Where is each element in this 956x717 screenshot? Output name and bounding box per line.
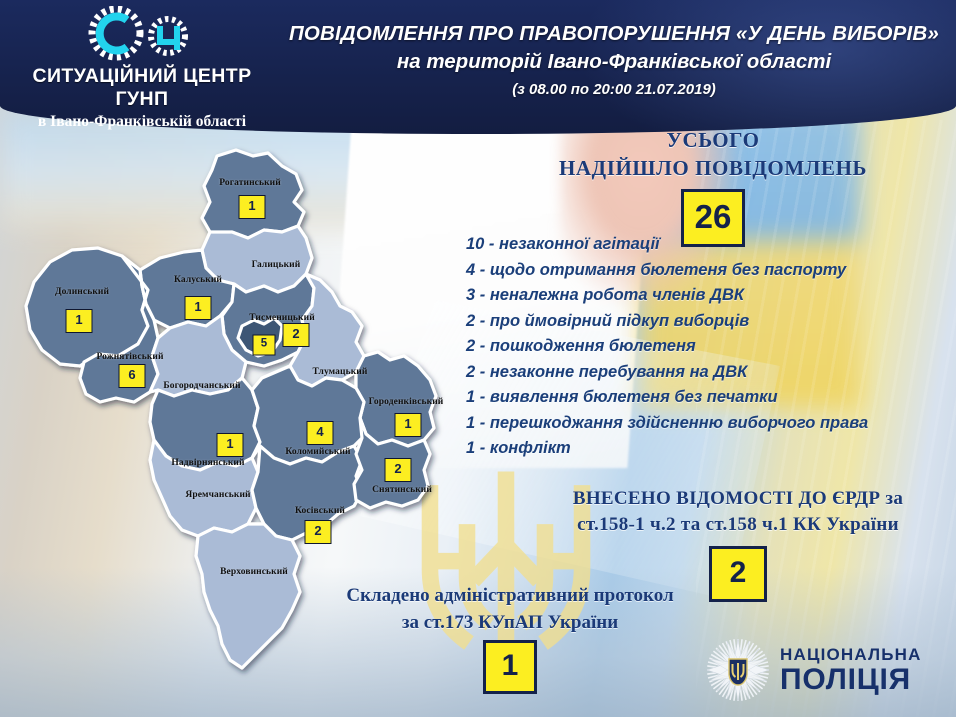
map-label-dolynskyi: Долинський bbox=[55, 287, 109, 297]
map-label-bohorodchanskyi: Богородчанський bbox=[163, 381, 240, 391]
title-line-1: ПОВІДОМЛЕННЯ ПРО ПРАВОПОРУШЕННЯ «У ДЕНЬ … bbox=[278, 22, 950, 46]
map-badge-kosivskyi: 2 bbox=[305, 520, 332, 544]
protocol-value-badge: 1 bbox=[483, 640, 537, 694]
totals-block: УСЬОГО НАДІЙШЛО ПОВІДОМЛЕНЬ 26 bbox=[470, 128, 956, 247]
list-item: 1 - виявлення бюлетеня без печатки bbox=[466, 385, 956, 411]
map-label-verkhovynskyi: Верховинський bbox=[220, 567, 288, 577]
map-badge-rozhniativskyi: 6 bbox=[119, 364, 146, 388]
totals-label-line2: НАДІЙШЛО ПОВІДОМЛЕНЬ bbox=[470, 156, 956, 181]
police-line-1: НАЦІОНАЛЬНА bbox=[780, 646, 922, 663]
region-map: Рогатинський Галицький Долинський Калусь… bbox=[6, 140, 466, 710]
map-label-horodenkivskyi: Городенківський bbox=[369, 397, 444, 407]
map-badge-ivano-frankivsk-city: 5 bbox=[253, 335, 276, 356]
map-badge-nadvirnianskyi: 1 bbox=[217, 433, 244, 457]
police-wordmark: НАЦІОНАЛЬНА ПОЛІЦІЯ bbox=[780, 646, 922, 695]
gear-emblem-sc-icon bbox=[82, 6, 202, 64]
erdr-line-1: ВНЕСЕНО ВІДОМОСТІ ДО ЄРДР за bbox=[520, 486, 956, 512]
map-badge-kolomyiskyi: 4 bbox=[307, 421, 334, 445]
list-item: 1 - конфлікт bbox=[466, 436, 956, 462]
map-badge-tysmenytskyi: 2 bbox=[283, 323, 310, 347]
map-badge-sniatynskyi: 2 bbox=[385, 458, 412, 482]
map-label-yaremchanskyi: Яремчанський bbox=[185, 490, 250, 500]
map-label-kosivskyi: Косівський bbox=[295, 506, 345, 516]
totals-label-line1: УСЬОГО bbox=[470, 128, 956, 153]
list-item: 2 - пошкодження бюлетеня bbox=[466, 334, 956, 360]
map-badge-rohatynskyi: 1 bbox=[239, 195, 266, 219]
list-item: 3 - неналежна робота членів ДВК bbox=[466, 283, 956, 309]
list-item: 4 - щодо отримання бюлетеня без паспорту bbox=[466, 258, 956, 284]
page-title: ПОВІДОМЛЕННЯ ПРО ПРАВОПОРУШЕННЯ «У ДЕНЬ … bbox=[278, 22, 950, 98]
logo-subtitle: в Івано-Франківській області bbox=[8, 113, 276, 131]
map-label-rohatynskyi: Рогатинський bbox=[219, 178, 281, 188]
map-badge-dolynskyi: 1 bbox=[66, 309, 93, 333]
infographic-canvas: СИТУАЦІЙНИЙ ЦЕНТР ГУНП в Івано-Франківсь… bbox=[0, 0, 956, 717]
map-label-halytskyi: Галицький bbox=[252, 260, 301, 270]
logo-title: СИТУАЦІЙНИЙ ЦЕНТР ГУНП bbox=[8, 65, 276, 111]
map-label-rozhniativskyi: Рожнятівський bbox=[96, 352, 163, 362]
national-police-logo: НАЦІОНАЛЬНА ПОЛІЦІЯ bbox=[706, 632, 950, 708]
map-label-sniatynskyi: Снятинський bbox=[372, 485, 432, 495]
map-label-nadvirnianskyi: Надвірнянський bbox=[171, 458, 244, 468]
police-star-emblem-icon bbox=[706, 638, 770, 702]
reason-list: 10 - незаконної агітації 4 - щодо отрима… bbox=[466, 232, 956, 462]
list-item: 1 - перешкоджання здійсненню виборчого п… bbox=[466, 411, 956, 437]
erdr-line-2: ст.158-1 ч.2 та ст.158 ч.1 КК України bbox=[520, 512, 956, 538]
list-item: 2 - про ймовірний підкуп виборців bbox=[466, 309, 956, 335]
list-item: 10 - незаконної агітації bbox=[466, 232, 956, 258]
map-badge-kaluskyi: 1 bbox=[185, 296, 212, 320]
map-label-tlumatskyi: Тлумацький bbox=[313, 367, 368, 377]
map-label-tysmenytskyi: Тисменицький bbox=[249, 313, 315, 323]
map-badge-horodenkivskyi: 1 bbox=[395, 413, 422, 437]
map-label-kolomyiskyi: Коломийський bbox=[285, 447, 350, 457]
title-line-2: на територій Івано-Франківської області bbox=[278, 50, 950, 74]
list-item: 2 - незаконне перебування на ДВК bbox=[466, 360, 956, 386]
situational-center-logo: СИТУАЦІЙНИЙ ЦЕНТР ГУНП в Івано-Франківсь… bbox=[8, 6, 276, 116]
map-label-kaluskyi: Калуський bbox=[174, 275, 222, 285]
map-region-verkhovynskyi[interactable] bbox=[196, 524, 300, 668]
title-period: (з 08.00 по 20:00 21.07.2019) bbox=[278, 81, 950, 98]
police-line-2: ПОЛІЦІЯ bbox=[780, 665, 922, 695]
